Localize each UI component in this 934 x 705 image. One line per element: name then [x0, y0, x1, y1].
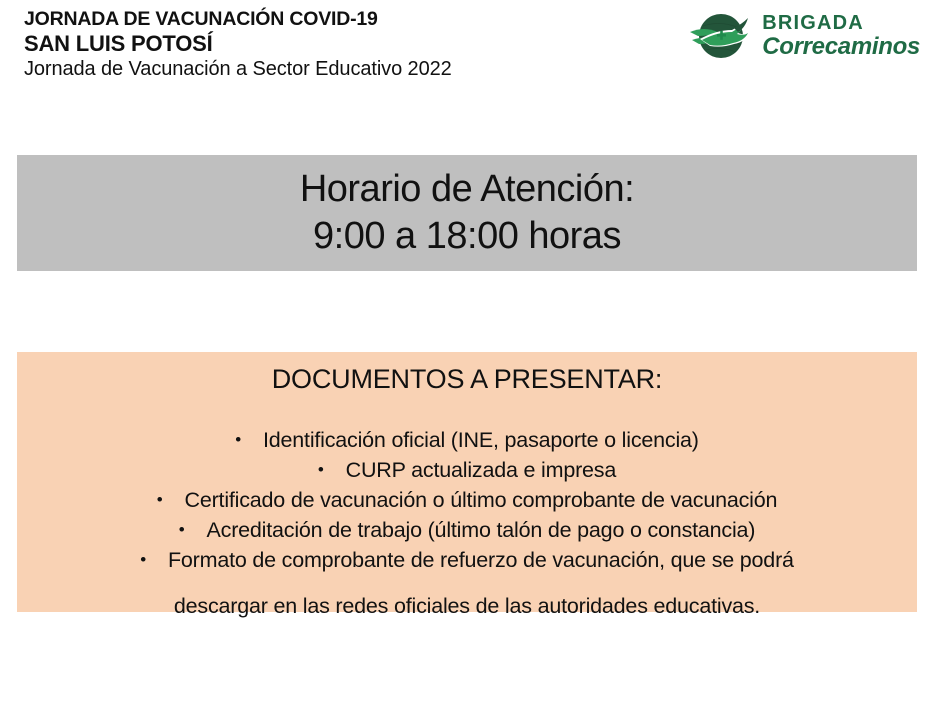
page-title-line-1: JORNADA DE VACUNACIÓN COVID-19: [24, 8, 664, 31]
list-item: •Formato de comprobante de refuerzo de v…: [17, 545, 917, 575]
bullet-icon: •: [140, 545, 146, 575]
list-item-label: Acreditación de trabajo (último talón de…: [207, 518, 756, 542]
documents-box: DOCUMENTOS A PRESENTAR: •Identificación …: [17, 352, 917, 612]
logo-wordmark: BRIGADA Correcaminos: [762, 13, 920, 59]
page-subtitle: Jornada de Vacunación a Sector Educativo…: [24, 56, 664, 82]
list-item: •Identificación oficial (INE, pasaporte …: [17, 425, 917, 455]
list-item-label: Formato de comprobante de refuerzo de va…: [168, 548, 794, 572]
documents-heading: DOCUMENTOS A PRESENTAR:: [17, 364, 917, 395]
list-item: •Certificado de vacunación o último comp…: [17, 485, 917, 515]
list-item: •CURP actualizada e impresa: [17, 455, 917, 485]
roadrunner-medical-cross-emblem-icon: [688, 6, 754, 66]
schedule-heading: Horario de Atención:: [300, 166, 634, 213]
logo-correcaminos-text: Correcaminos: [762, 35, 920, 59]
list-item-label: CURP actualizada e impresa: [346, 458, 616, 482]
page-header: JORNADA DE VACUNACIÓN COVID-19 SAN LUIS …: [0, 0, 934, 95]
list-item: •Acreditación de trabajo (último talón d…: [17, 515, 917, 545]
bullet-icon: •: [157, 485, 163, 515]
brigada-correcaminos-logo: BRIGADA Correcaminos: [688, 6, 920, 66]
list-item-label: Identificación oficial (INE, pasaporte o…: [263, 428, 699, 452]
schedule-hours: 9:00 a 18:00 horas: [313, 213, 621, 260]
list-item-label: Certificado de vacunación o último compr…: [185, 488, 778, 512]
logo-brigada-text: BRIGADA: [762, 13, 920, 33]
documents-list: •Identificación oficial (INE, pasaporte …: [17, 425, 917, 575]
bullet-icon: •: [235, 425, 241, 455]
page-title-line-2: SAN LUIS POTOSÍ: [24, 31, 664, 56]
list-item-continuation: descargar en las redes oficiales de las …: [17, 591, 917, 621]
header-title-block: JORNADA DE VACUNACIÓN COVID-19 SAN LUIS …: [24, 8, 664, 82]
bullet-icon: •: [179, 515, 185, 545]
schedule-banner: Horario de Atención: 9:00 a 18:00 horas: [17, 155, 917, 271]
bullet-icon: •: [318, 455, 324, 485]
